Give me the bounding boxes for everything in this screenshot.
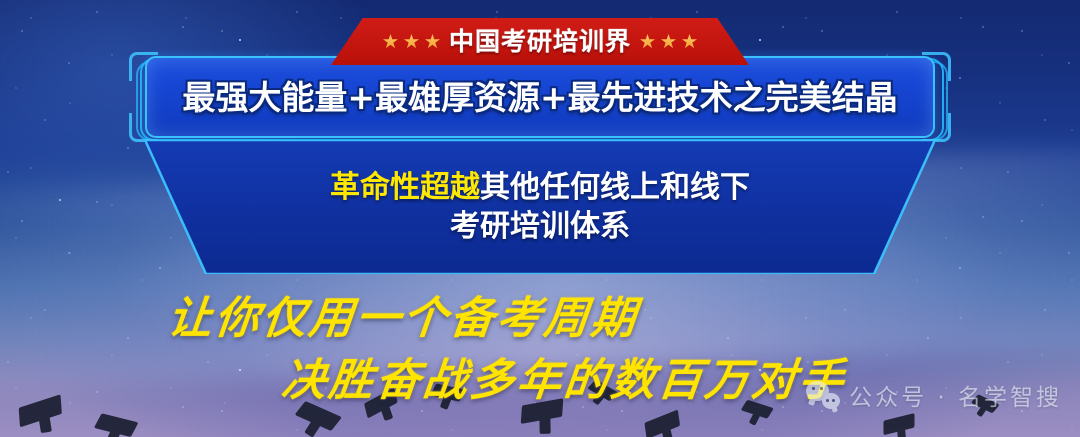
subhead-text-group: 革命性超越其他任何线上和线下 考研培训体系 (145, 140, 935, 274)
star-icon (404, 34, 419, 49)
subhead-line-2: 考研培训体系 (450, 212, 630, 242)
banner-stage: 中国考研培训界 最强大能量+最雄厚资源+最先进技术之完美结晶 (0, 0, 1080, 437)
subhead-line-1: 革命性超越其他任何线上和线下 (330, 173, 750, 203)
headline-text: 最强大能量+最雄厚资源+最先进技术之完美结晶 (182, 81, 897, 114)
corner-bracket-top-right-icon (922, 52, 951, 81)
star-icon (661, 34, 676, 49)
ribbon-title: 中国考研培训界 (449, 29, 631, 54)
headline-band-wrapper: 最强大能量+最雄厚资源+最先进技术之完美结晶 (145, 56, 935, 138)
headline-band: 最强大能量+最雄厚资源+最先进技术之完美结晶 (145, 56, 935, 138)
star-icon (640, 34, 655, 49)
subhead-rest: 其他任何线上和线下 (480, 170, 750, 205)
star-icon (425, 34, 440, 49)
ribbon-stars-right (640, 34, 697, 49)
ribbon-stars-left (383, 34, 440, 49)
headline-plate: 最强大能量+最雄厚资源+最先进技术之完美结晶 革命性超越其他任何线上和线下 考研… (145, 56, 935, 274)
corner-bracket-bottom-left-icon (129, 113, 158, 142)
star-icon (682, 34, 697, 49)
subhead-panel: 革命性超越其他任何线上和线下 考研培训体系 (145, 140, 935, 274)
corner-bracket-bottom-right-icon (922, 113, 951, 142)
subhead-highlight: 革命性超越 (330, 170, 480, 205)
ribbon-banner: 中国考研培训界 (331, 18, 749, 65)
corner-bracket-top-left-icon (129, 52, 158, 81)
star-icon (383, 34, 398, 49)
